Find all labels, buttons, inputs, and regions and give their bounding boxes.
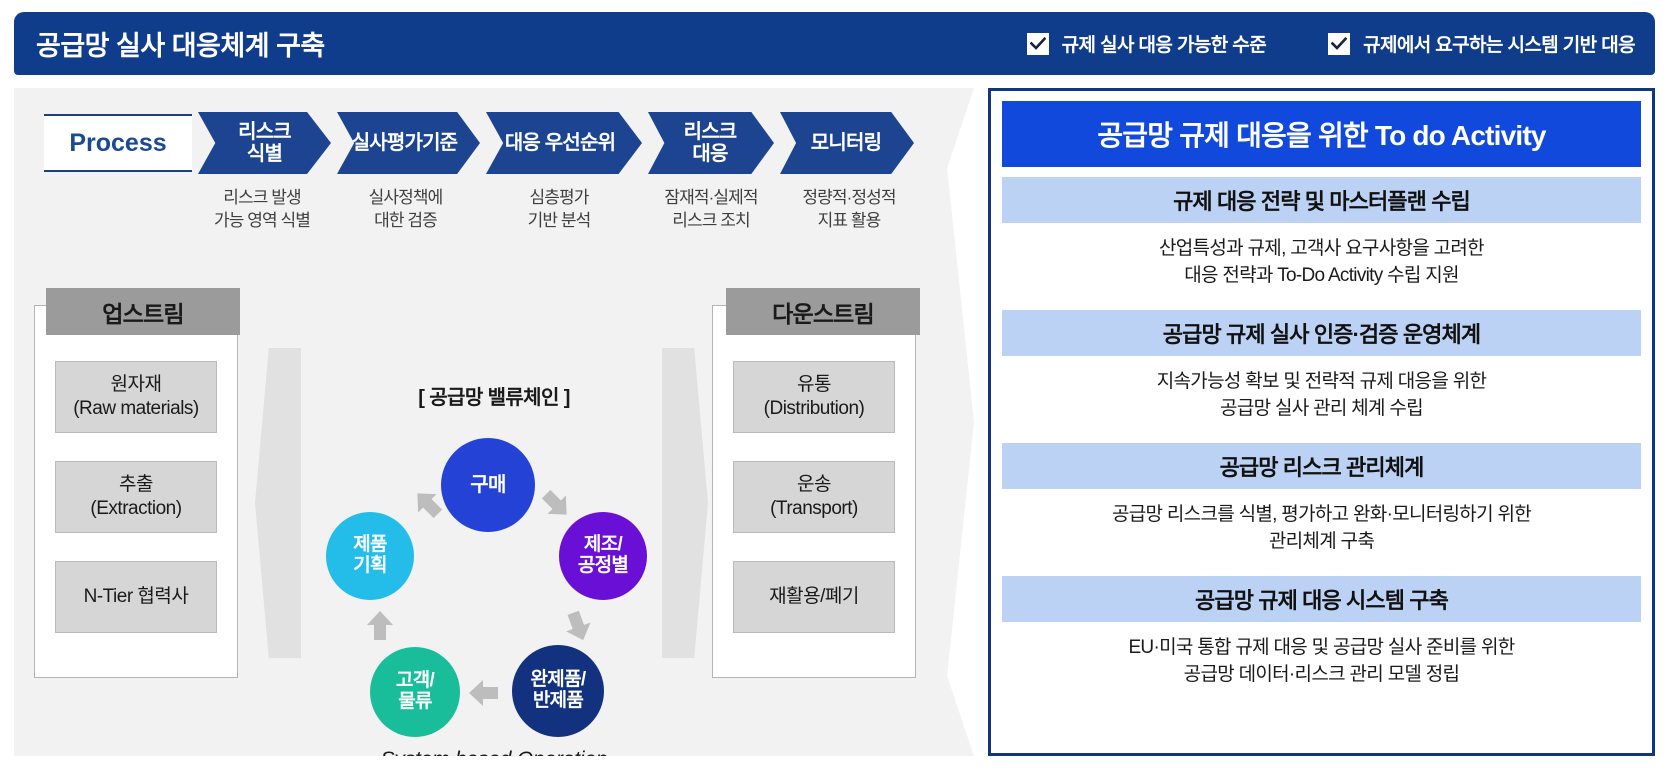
value-chain-node-manufacturing: 제조/ 공정별: [559, 512, 647, 600]
process-note-3: 심층평가 기반 분석: [484, 187, 634, 233]
value-chain-node-product-planning: 제품 기획: [326, 512, 414, 600]
value-chain-node-finished-goods: 완제품/ 반제품: [512, 645, 604, 737]
upstream-item-1: 원자재 (Raw materials): [55, 361, 217, 433]
downstream-item-1: 유통 (Distribution): [733, 361, 895, 433]
todo-activity-panel: 공급망 규제 대응을 위한 To do Activity 규제 대응 전략 및 …: [988, 88, 1655, 756]
process-step-3-label: 대응 우선순위: [505, 132, 623, 154]
flow-arrow-down-right-icon: [538, 487, 574, 521]
process-step-1-label: 리스크 식별: [230, 121, 299, 166]
header-check-label-1: 규제 실사 대응 가능한 수준: [1062, 30, 1266, 57]
downstream-column: 유통 (Distribution) 운송 (Transport) 재활용/폐기: [712, 305, 916, 678]
todo-row-title-3: 공급망 리스크 관리체계: [1002, 443, 1641, 489]
header-check-item-1: 규제 실사 대응 가능한 수준: [1027, 30, 1266, 57]
process-badge: Process: [44, 114, 192, 172]
value-chain-node-customer-logistics: 고객/ 물류: [370, 647, 460, 737]
todo-row-title-2: 공급망 규제 실사 인증·검증 운영체계: [1002, 310, 1641, 356]
flow-arrow-up-icon: [362, 609, 398, 643]
todo-row-desc-3: 공급망 리스크를 식별, 평가하고 완화·모니터링하기 위한 관리체계 구축: [1002, 489, 1641, 566]
header-check-label-2: 규제에서 요구하는 시스템 기반 대응: [1363, 30, 1635, 57]
process-note-2: 실사정책에 대한 검증: [334, 187, 477, 233]
todo-row-desc-4: EU·미국 통합 규제 대응 및 공급망 실사 준비를 위한 공급망 데이터·리…: [1002, 622, 1641, 699]
process-step-3: 대응 우선순위: [486, 112, 642, 174]
upstream-funnel-chevron-icon: [255, 348, 301, 658]
process-step-1: 리스크 식별: [198, 112, 331, 174]
upstream-column: 원자재 (Raw materials) 추출 (Extraction) N-Ti…: [34, 305, 238, 678]
value-chain-caption: System based Operation: [344, 748, 644, 772]
upstream-heading: 업스트림: [46, 288, 240, 335]
page-title: 공급망 실사 대응체계 구축: [36, 24, 325, 63]
process-note-5: 정량적·정성적 지표 활용: [776, 187, 922, 233]
todo-panel-title: 공급망 규제 대응을 위한 To do Activity: [1002, 101, 1641, 167]
process-step-5: 모니터링: [780, 112, 914, 174]
process-step-2: 실사평가기준: [337, 112, 480, 174]
header-checklist: 규제 실사 대응 가능한 수준 규제에서 요구하는 시스템 기반 대응: [1027, 30, 1655, 57]
todo-row-title-4: 공급망 규제 대응 시스템 구축: [1002, 576, 1641, 622]
downstream-item-2: 운송 (Transport): [733, 461, 895, 533]
flow-arrow-down-icon: [560, 609, 596, 643]
todo-row-title-1: 규제 대응 전략 및 마스터플랜 수립: [1002, 177, 1641, 223]
upstream-item-2: 추출 (Extraction): [55, 461, 217, 533]
downstream-item-3: 재활용/폐기: [733, 561, 895, 633]
todo-row-desc-1: 산업특성과 규제, 고객사 요구사항을 고려한 대응 전략과 To-Do Act…: [1002, 223, 1641, 300]
todo-row-desc-2: 지속가능성 확보 및 전략적 규제 대응을 위한 공급망 실사 관리 체계 수립: [1002, 356, 1641, 433]
downstream-funnel-chevron-icon: [662, 348, 708, 658]
header-check-item-2: 규제에서 요구하는 시스템 기반 대응: [1328, 30, 1635, 57]
process-step-4: 리스크 대응: [648, 112, 774, 174]
process-note-4: 잠재적·실제적 리스크 조치: [640, 187, 782, 233]
process-step-2-label: 실사평가기준: [352, 132, 466, 154]
supply-chain-panel: Process 리스크 식별 실사평가기준 대응 우선순위 리스크 대응 모니터…: [14, 88, 974, 756]
checkbox-checked-icon: [1328, 33, 1350, 55]
process-step-4-label: 리스크 대응: [678, 121, 745, 166]
process-note-1: 리스크 발생 가능 영역 식별: [192, 187, 332, 233]
process-step-5-label: 모니터링: [805, 132, 889, 154]
value-chain-node-purchase: 구매: [441, 438, 535, 532]
upstream-item-3: N-Tier 협력사: [55, 561, 217, 633]
value-chain-title: [ 공급망 밸류체인 ]: [344, 381, 644, 410]
page-header: 공급망 실사 대응체계 구축 규제 실사 대응 가능한 수준 규제에서 요구하는…: [14, 12, 1655, 75]
checkbox-checked-icon: [1027, 33, 1049, 55]
flow-arrow-left-icon: [466, 676, 502, 710]
flow-arrow-up-right-icon: [410, 487, 446, 521]
downstream-heading: 다운스트림: [726, 288, 920, 335]
